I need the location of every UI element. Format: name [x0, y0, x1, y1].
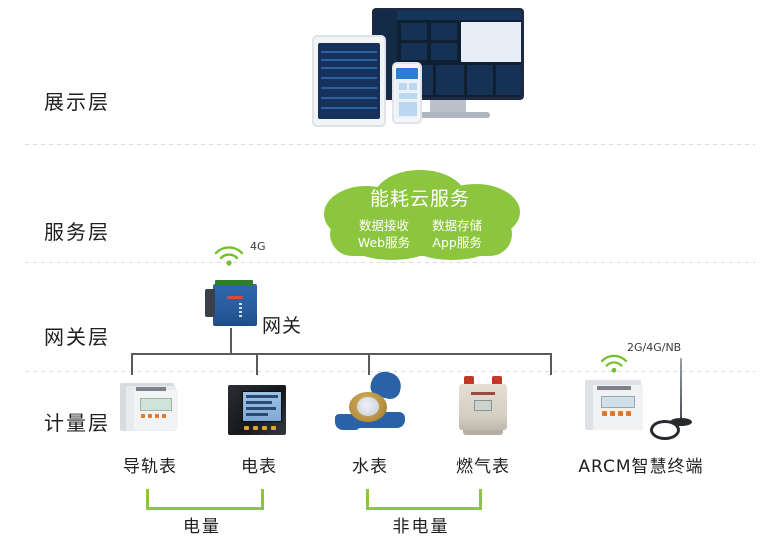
wifi-signal-icon — [212, 240, 246, 266]
gateway-device — [205, 280, 257, 328]
gas-meter-icon — [455, 376, 513, 436]
bracket-label-non-electricity: 非电量 — [366, 512, 476, 537]
layer-label-presentation: 展示层 — [44, 86, 110, 115]
monitor-chart — [467, 65, 493, 95]
gateway-brand-mark — [227, 296, 243, 299]
wifi-signal-icon — [598, 349, 630, 373]
layer-label-gateway: 网关层 — [44, 321, 110, 350]
cloud-shape-icon — [300, 168, 540, 264]
electric-meter-icon — [228, 385, 290, 437]
gateway-label: 网关 — [262, 311, 302, 338]
din-rail-meter-icon — [118, 381, 182, 435]
monitor-card — [401, 43, 427, 60]
monitor-topbar — [397, 11, 521, 20]
tablet-device — [312, 35, 386, 127]
monitor-card — [401, 23, 427, 40]
terminal-network-label: 2G/4G/NB — [627, 341, 681, 354]
monitor-chart — [436, 65, 464, 95]
connector-gateway-down — [230, 328, 232, 354]
monitor-chart — [496, 65, 521, 95]
connector-bus-horizontal — [131, 353, 551, 355]
meter-label-din-rail: 导轨表 — [112, 452, 188, 477]
terminal-label: ARCM智慧终端 — [563, 452, 719, 477]
meter-label-water: 水表 — [340, 452, 400, 477]
monitor-map-panel — [461, 22, 521, 62]
bracket-non-electricity — [366, 489, 482, 510]
phone-screen — [396, 68, 418, 118]
gateway-terminal-block — [215, 280, 253, 286]
gateway-network-label: 4G — [250, 240, 266, 253]
monitor-card — [431, 43, 457, 60]
monitor-card — [431, 23, 457, 40]
layer-label-metering: 计量层 — [44, 407, 110, 436]
bracket-label-electricity: 电量 — [146, 512, 258, 537]
connector-drop-gas — [550, 353, 552, 375]
phone-header — [396, 68, 418, 79]
tablet-screen — [318, 43, 380, 119]
smartphone-device — [392, 62, 422, 124]
connector-drop-electric — [256, 353, 258, 375]
arcm-terminal-icon — [585, 378, 649, 434]
gateway-connector — [205, 289, 215, 317]
water-meter-icon — [333, 372, 407, 438]
cloud-service: 能耗云服务 数据接收 数据存储 Web服务 App服务 — [300, 168, 540, 264]
layer-label-service: 服务层 — [44, 216, 110, 245]
meter-label-gas: 燃气表 — [444, 452, 522, 477]
gateway-body — [213, 284, 257, 326]
bracket-electricity — [146, 489, 264, 510]
divider-presentation-service — [25, 144, 755, 145]
antenna-icon — [650, 358, 700, 436]
connector-drop-din — [131, 353, 133, 375]
architecture-diagram: 展示层 服务层 网关层 计量层 — [0, 0, 777, 545]
meter-label-electric: 电表 — [229, 452, 289, 477]
